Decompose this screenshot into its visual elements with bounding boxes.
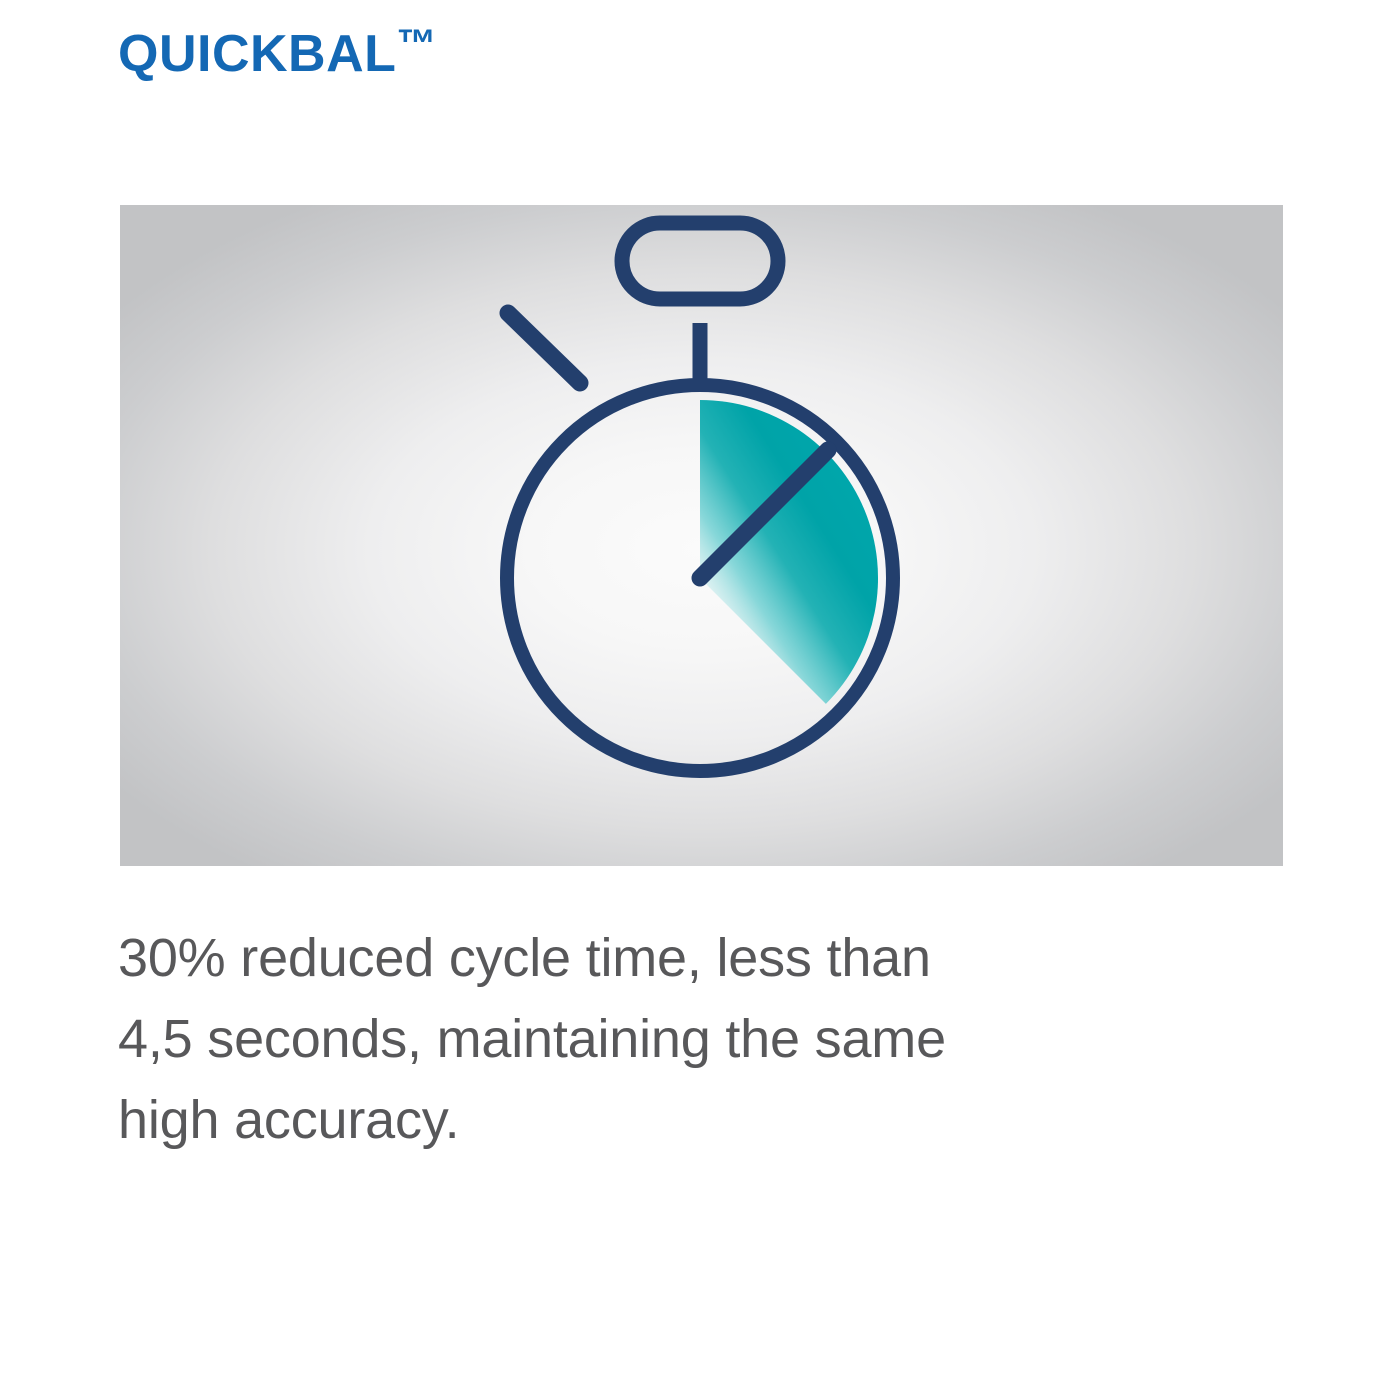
- stopwatch-crown-button: [622, 223, 778, 299]
- brand-name: QUICKBAL: [118, 25, 396, 83]
- stopwatch-icon: [120, 205, 1283, 866]
- stopwatch-side-button: [508, 313, 580, 383]
- hero-image-panel: [120, 205, 1283, 866]
- caption-text: 30% reduced cycle time, less than 4,5 se…: [118, 918, 1248, 1161]
- caption-line-3: high accuracy.: [118, 1080, 1248, 1161]
- caption-line-1: 30% reduced cycle time, less than: [118, 918, 1248, 999]
- trademark-symbol: ™: [396, 22, 436, 66]
- page-title: QUICKBAL™: [118, 22, 436, 83]
- page-root: QUICKBAL™: [0, 0, 1400, 1400]
- caption-line-2: 4,5 seconds, maintaining the same: [118, 999, 1248, 1080]
